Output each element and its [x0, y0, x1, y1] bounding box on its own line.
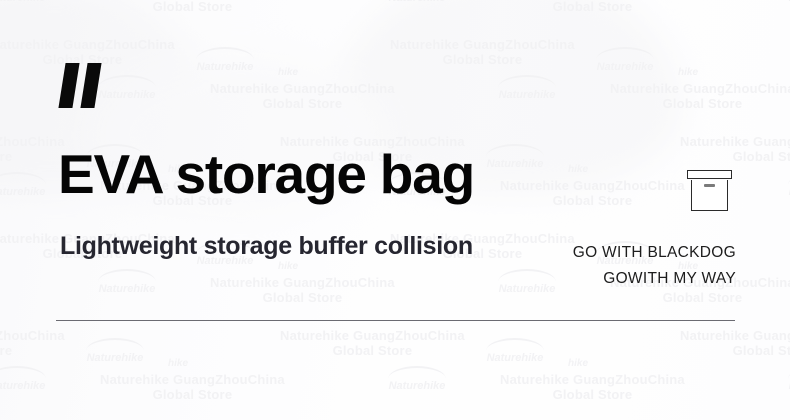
product-banner: Naturehike GuangZhouChinaGlobal StoreNat…	[0, 0, 790, 420]
page-subtitle: Lightweight storage buffer collision	[60, 230, 473, 262]
banner-content: EVA storage bag Lightweight storage buff…	[0, 0, 790, 420]
brand-slogan: GO WITH BLACKDOG GOWITH MY WAY	[476, 240, 736, 292]
page-title: EVA storage bag	[58, 143, 474, 205]
quotation-mark-icon	[59, 63, 107, 111]
horizontal-divider	[56, 320, 735, 321]
slogan-line-1: GO WITH BLACKDOG	[573, 244, 736, 261]
storage-box-icon	[687, 170, 734, 213]
box-handle	[704, 184, 715, 187]
slogan-line-2: GOWITH MY WAY	[476, 266, 736, 292]
box-lid	[687, 170, 732, 179]
